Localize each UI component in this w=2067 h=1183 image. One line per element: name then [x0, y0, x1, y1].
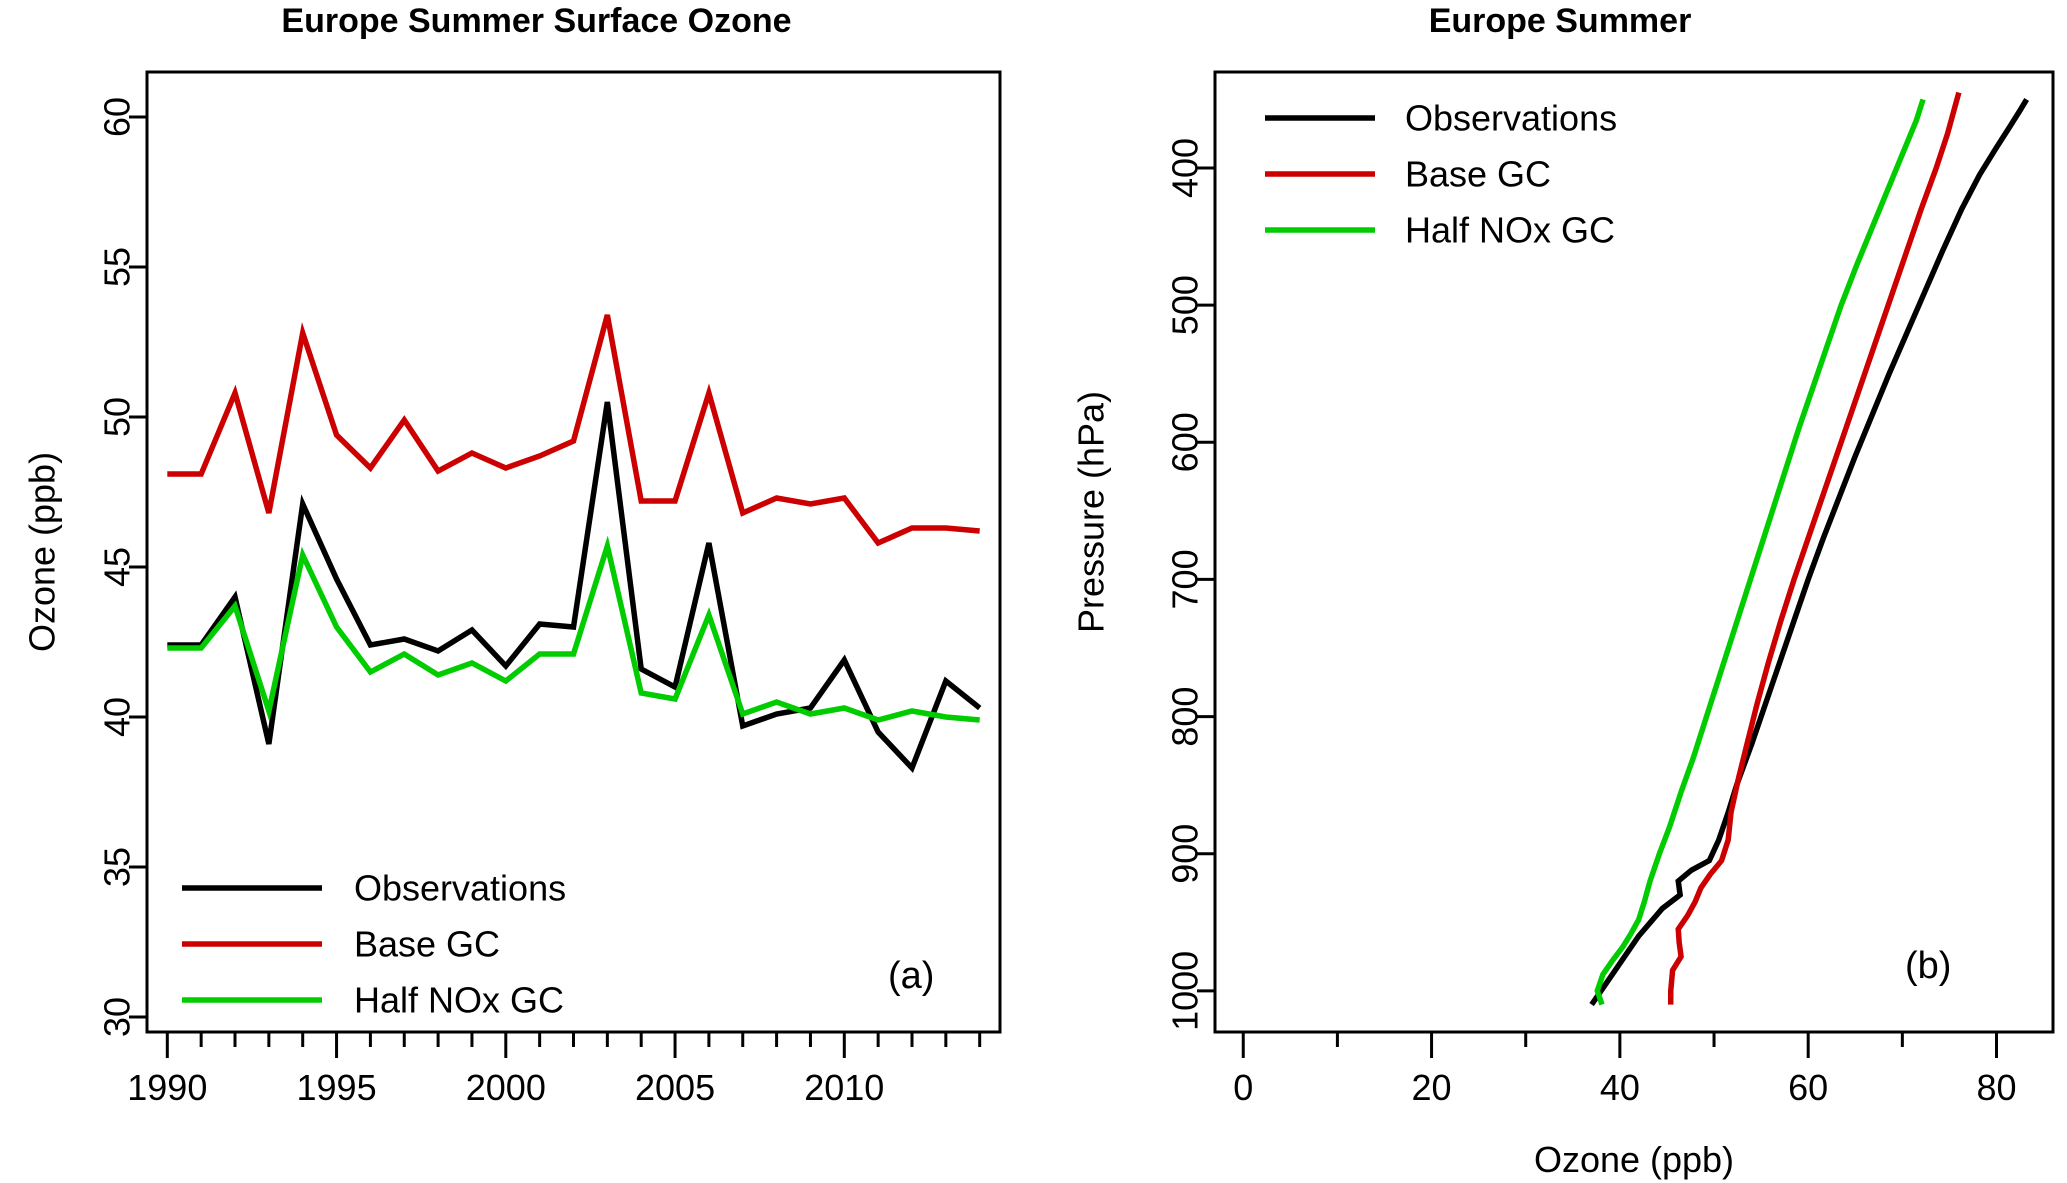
panel-b-xtick-label: 40 — [1600, 1067, 1640, 1108]
panel-a-ytick-label: 45 — [97, 547, 138, 587]
panel-b-x-axis-title: Ozone (ppb) — [1534, 1139, 1734, 1180]
panel-a-ytick-label: 60 — [97, 97, 138, 137]
panel-b-xtick-label: 80 — [1976, 1067, 2016, 1108]
panel-b-xtick-label: 0 — [1233, 1067, 1253, 1108]
panel-a-xtick-label: 1990 — [127, 1067, 207, 1108]
panel-a-ytick-label: 35 — [97, 847, 138, 887]
panel-b: Europe Summer 4005006007008009001000Pres… — [1033, 0, 2067, 1183]
panel-b-y-axis-title: Pressure (hPa) — [1071, 391, 1112, 633]
panel-a-ytick-label: 40 — [97, 697, 138, 737]
panel-b-ytick-label: 1000 — [1165, 951, 1206, 1031]
panel-a-legend-label: Observations — [354, 868, 566, 909]
panel-b-title: Europe Summer — [1033, 2, 2067, 41]
panel-a-series-base-gc — [167, 315, 979, 543]
panel-b-frame — [1215, 72, 2053, 1032]
panel-b-series-half-nox-gc — [1597, 99, 1923, 1004]
panel-a-legend-label: Base GC — [354, 924, 500, 965]
panel-a-title: Europe Summer Surface Ozone — [0, 2, 1033, 41]
panel-b-ytick-label: 900 — [1165, 824, 1206, 884]
panel-b-tag: (b) — [1905, 945, 1951, 987]
panel-b-legend-label: Half NOx GC — [1405, 210, 1615, 251]
figure-root: Europe Summer Surface Ozone 303540455055… — [0, 0, 2067, 1183]
panel-a-xtick-label: 1995 — [297, 1067, 377, 1108]
panel-a-ytick-label: 30 — [97, 997, 138, 1037]
panel-b-series-base-gc — [1671, 93, 1959, 1005]
panel-a: Europe Summer Surface Ozone 303540455055… — [0, 0, 1033, 1183]
panel-b-xtick-label: 20 — [1412, 1067, 1452, 1108]
panel-a-xtick-label: 2005 — [635, 1067, 715, 1108]
panel-b-ytick-label: 400 — [1165, 138, 1206, 198]
panel-b-legend-label: Base GC — [1405, 154, 1551, 195]
panel-b-plot: 4005006007008009001000Pressure (hPa)0204… — [1033, 0, 2067, 1183]
panel-a-xtick-label: 2000 — [466, 1067, 546, 1108]
panel-b-ytick-label: 800 — [1165, 687, 1206, 747]
panel-b-ytick-label: 700 — [1165, 549, 1206, 609]
panel-b-ytick-label: 600 — [1165, 412, 1206, 472]
panel-a-y-axis-title: Ozone (ppb) — [22, 452, 63, 652]
panel-a-xtick-label: 2010 — [804, 1067, 884, 1108]
panel-b-ytick-label: 500 — [1165, 275, 1206, 335]
panel-a-legend-label: Half NOx GC — [354, 980, 564, 1021]
panel-a-tag: (a) — [888, 955, 934, 997]
panel-b-xtick-label: 60 — [1788, 1067, 1828, 1108]
panel-a-plot: 30354045505560Ozone (ppb)199019952000200… — [0, 0, 1033, 1183]
panel-a-ytick-label: 55 — [97, 247, 138, 287]
panel-a-ytick-label: 50 — [97, 397, 138, 437]
panel-b-legend-label: Observations — [1405, 98, 1617, 139]
